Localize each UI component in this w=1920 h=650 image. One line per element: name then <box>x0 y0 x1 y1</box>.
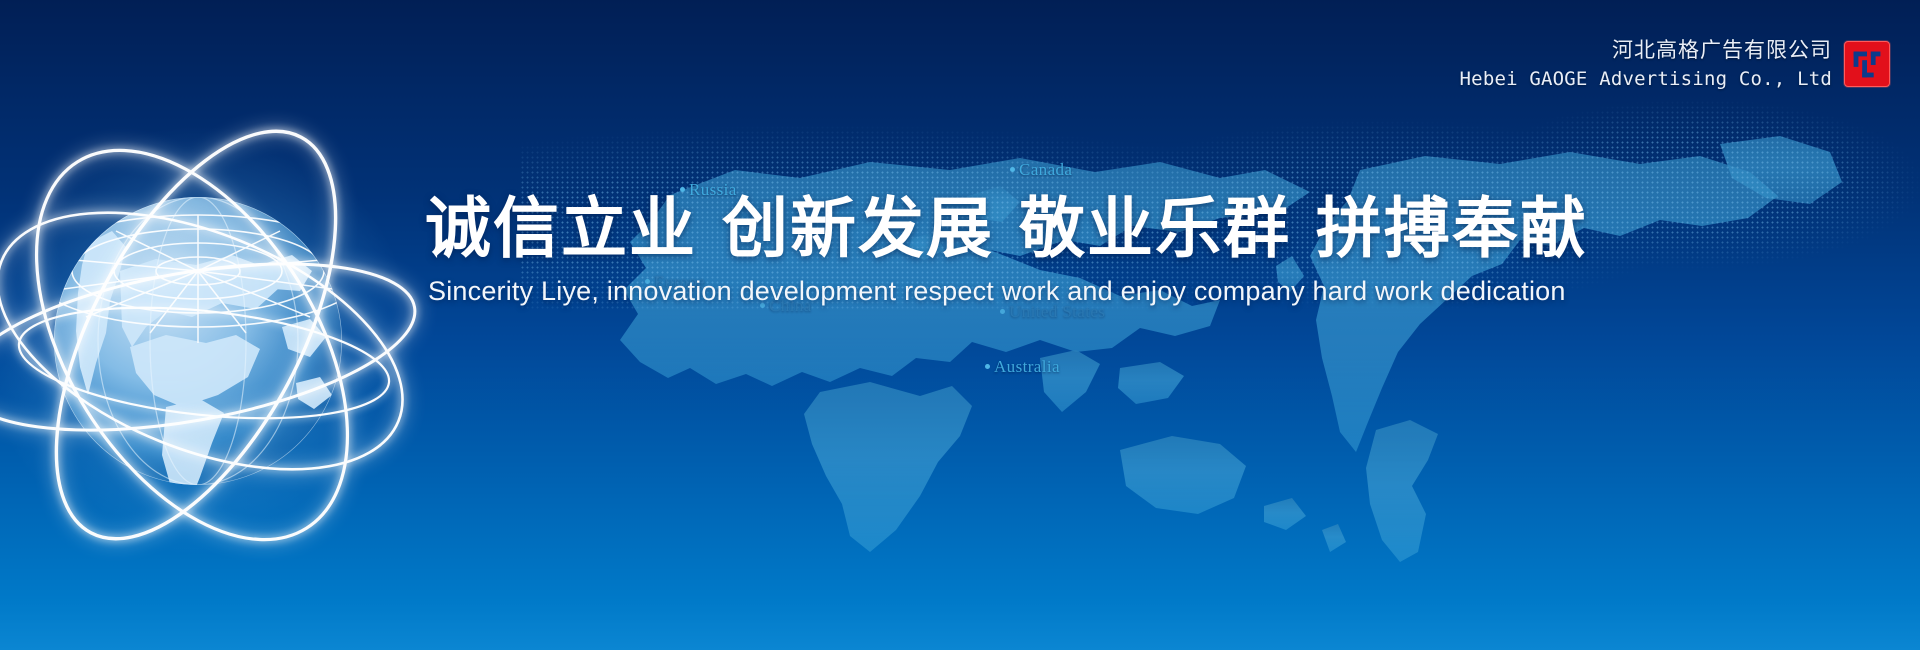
company-name-cn: 河北高格广告有限公司 <box>1460 36 1832 64</box>
company-banner: Russia Canada Europe China United States… <box>0 0 1920 650</box>
company-identity: 河北高格广告有限公司 Hebei GAOGE Advertising Co., … <box>1460 36 1890 93</box>
world-map-background <box>520 100 1920 570</box>
map-label-canada: Canada <box>1010 160 1072 180</box>
company-name-en: Hebei GAOGE Advertising Co., Ltd <box>1460 66 1832 93</box>
slogan-english: Sincerity Liye, innovation development r… <box>428 276 1566 307</box>
map-marker-dot <box>1010 167 1015 172</box>
company-name-block: 河北高格广告有限公司 Hebei GAOGE Advertising Co., … <box>1460 36 1832 93</box>
map-label-australia: Australia <box>985 357 1060 377</box>
globe-orbit-graphic <box>0 95 430 565</box>
map-marker-dot <box>985 364 990 369</box>
slogan-chinese: 诚信立业 创新发展 敬业乐群 拼搏奉献 <box>425 196 1588 262</box>
gaoge-logo-icon <box>1844 41 1890 87</box>
map-marker-dot <box>1000 309 1005 314</box>
